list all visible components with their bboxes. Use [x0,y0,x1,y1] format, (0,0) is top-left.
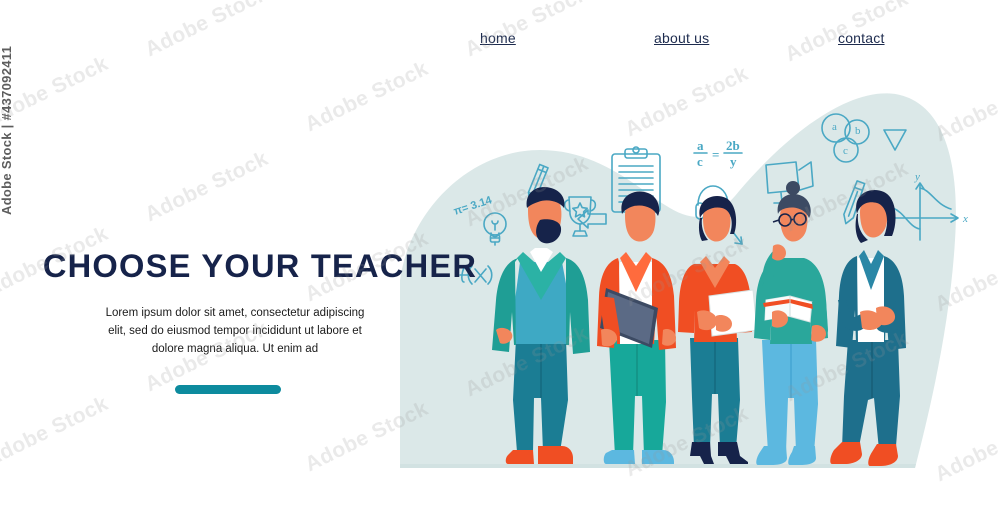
svg-text:c: c [843,145,848,157]
hero-body-text: Lorem ipsum dolor sit amet, consectetur … [0,304,400,358]
svg-text:a: a [832,121,837,133]
top-navigation: home about us contact [0,0,1000,70]
svg-text:=: = [712,147,719,162]
svg-text:2b: 2b [726,138,740,153]
landing-page-hero: π= 3.14 [0,0,1000,517]
nav-link-contact[interactable]: contact [838,30,885,46]
svg-text:a: a [697,138,704,153]
page-title: CHOOSE YOUR TEACHER [0,250,408,282]
svg-text:y: y [730,154,737,169]
svg-text:c: c [697,154,703,169]
hero-copy-block: CHOOSE YOUR TEACHER Lorem ipsum dolor si… [0,250,400,394]
svg-text:y: y [914,171,920,183]
svg-text:b: b [855,125,861,137]
fraction-formula-doodle: a c = 2b y [694,138,742,169]
svg-text:x: x [962,213,968,225]
nav-link-about-us[interactable]: about us [654,30,709,46]
cta-button[interactable] [175,385,281,394]
nav-link-home[interactable]: home [480,30,516,46]
watermark-vertical-id: Adobe Stock | #437092411 [0,46,14,215]
